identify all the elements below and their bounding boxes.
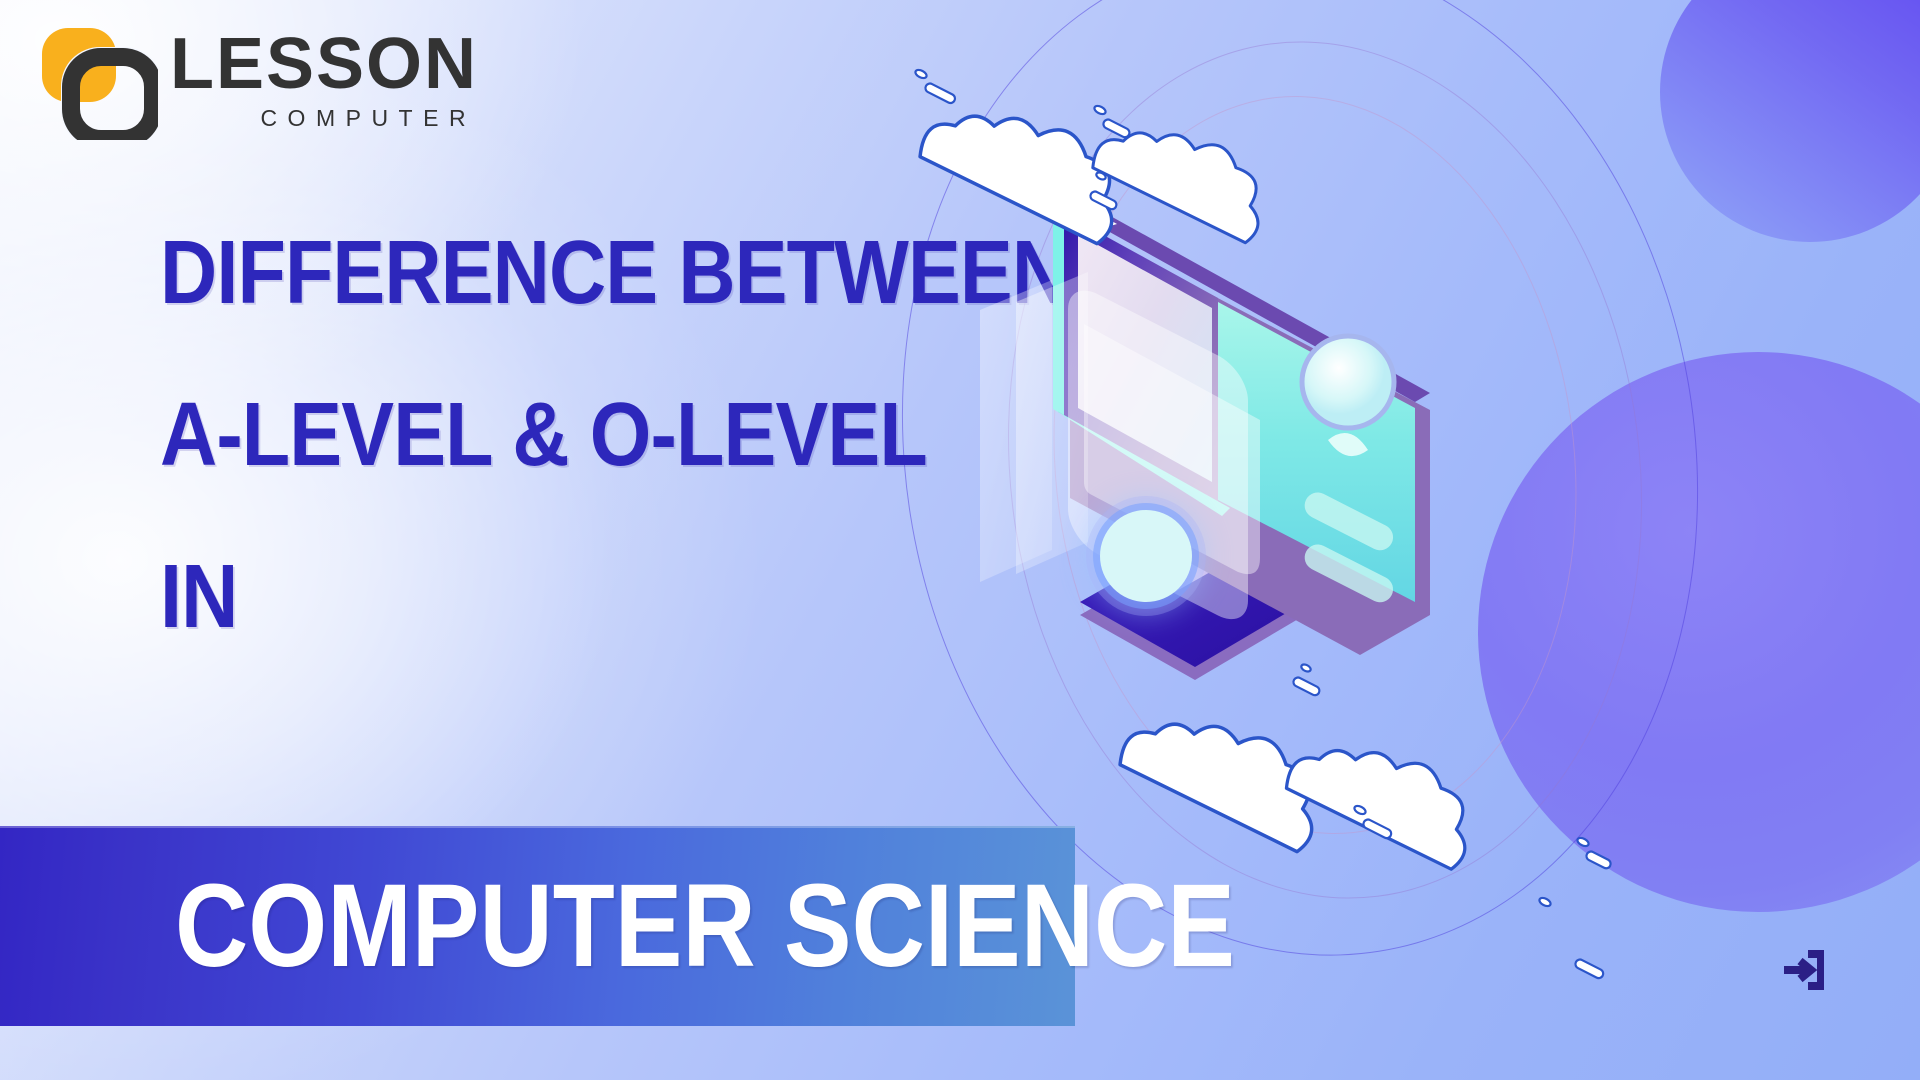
headline-line-1: DIFFERENCE BETWEEN (160, 228, 1040, 318)
headline-line-2: A-LEVEL & O-LEVEL (160, 390, 1040, 480)
poster-canvas: LESSON COMPUTER DIFFERENCE BETWEEN A-LEV… (0, 0, 1920, 1080)
login-arrow-icon[interactable] (1778, 944, 1830, 996)
decorative-circle-top-right (1660, 0, 1920, 242)
brand-logo[interactable]: LESSON COMPUTER (40, 22, 478, 140)
logo-brand-name: LESSON (170, 30, 478, 98)
logo-wordmark: LESSON COMPUTER (170, 30, 478, 131)
accent-glow-circle (1100, 510, 1192, 602)
headline-line-3: IN (160, 552, 1040, 642)
computer-illustration (960, 110, 1680, 870)
logo-mark-icon (40, 22, 158, 140)
banner-title: COMPUTER SCIENCE (175, 867, 1235, 985)
logo-tagline: COMPUTER (170, 105, 478, 132)
title-banner: COMPUTER SCIENCE (0, 826, 1075, 1026)
